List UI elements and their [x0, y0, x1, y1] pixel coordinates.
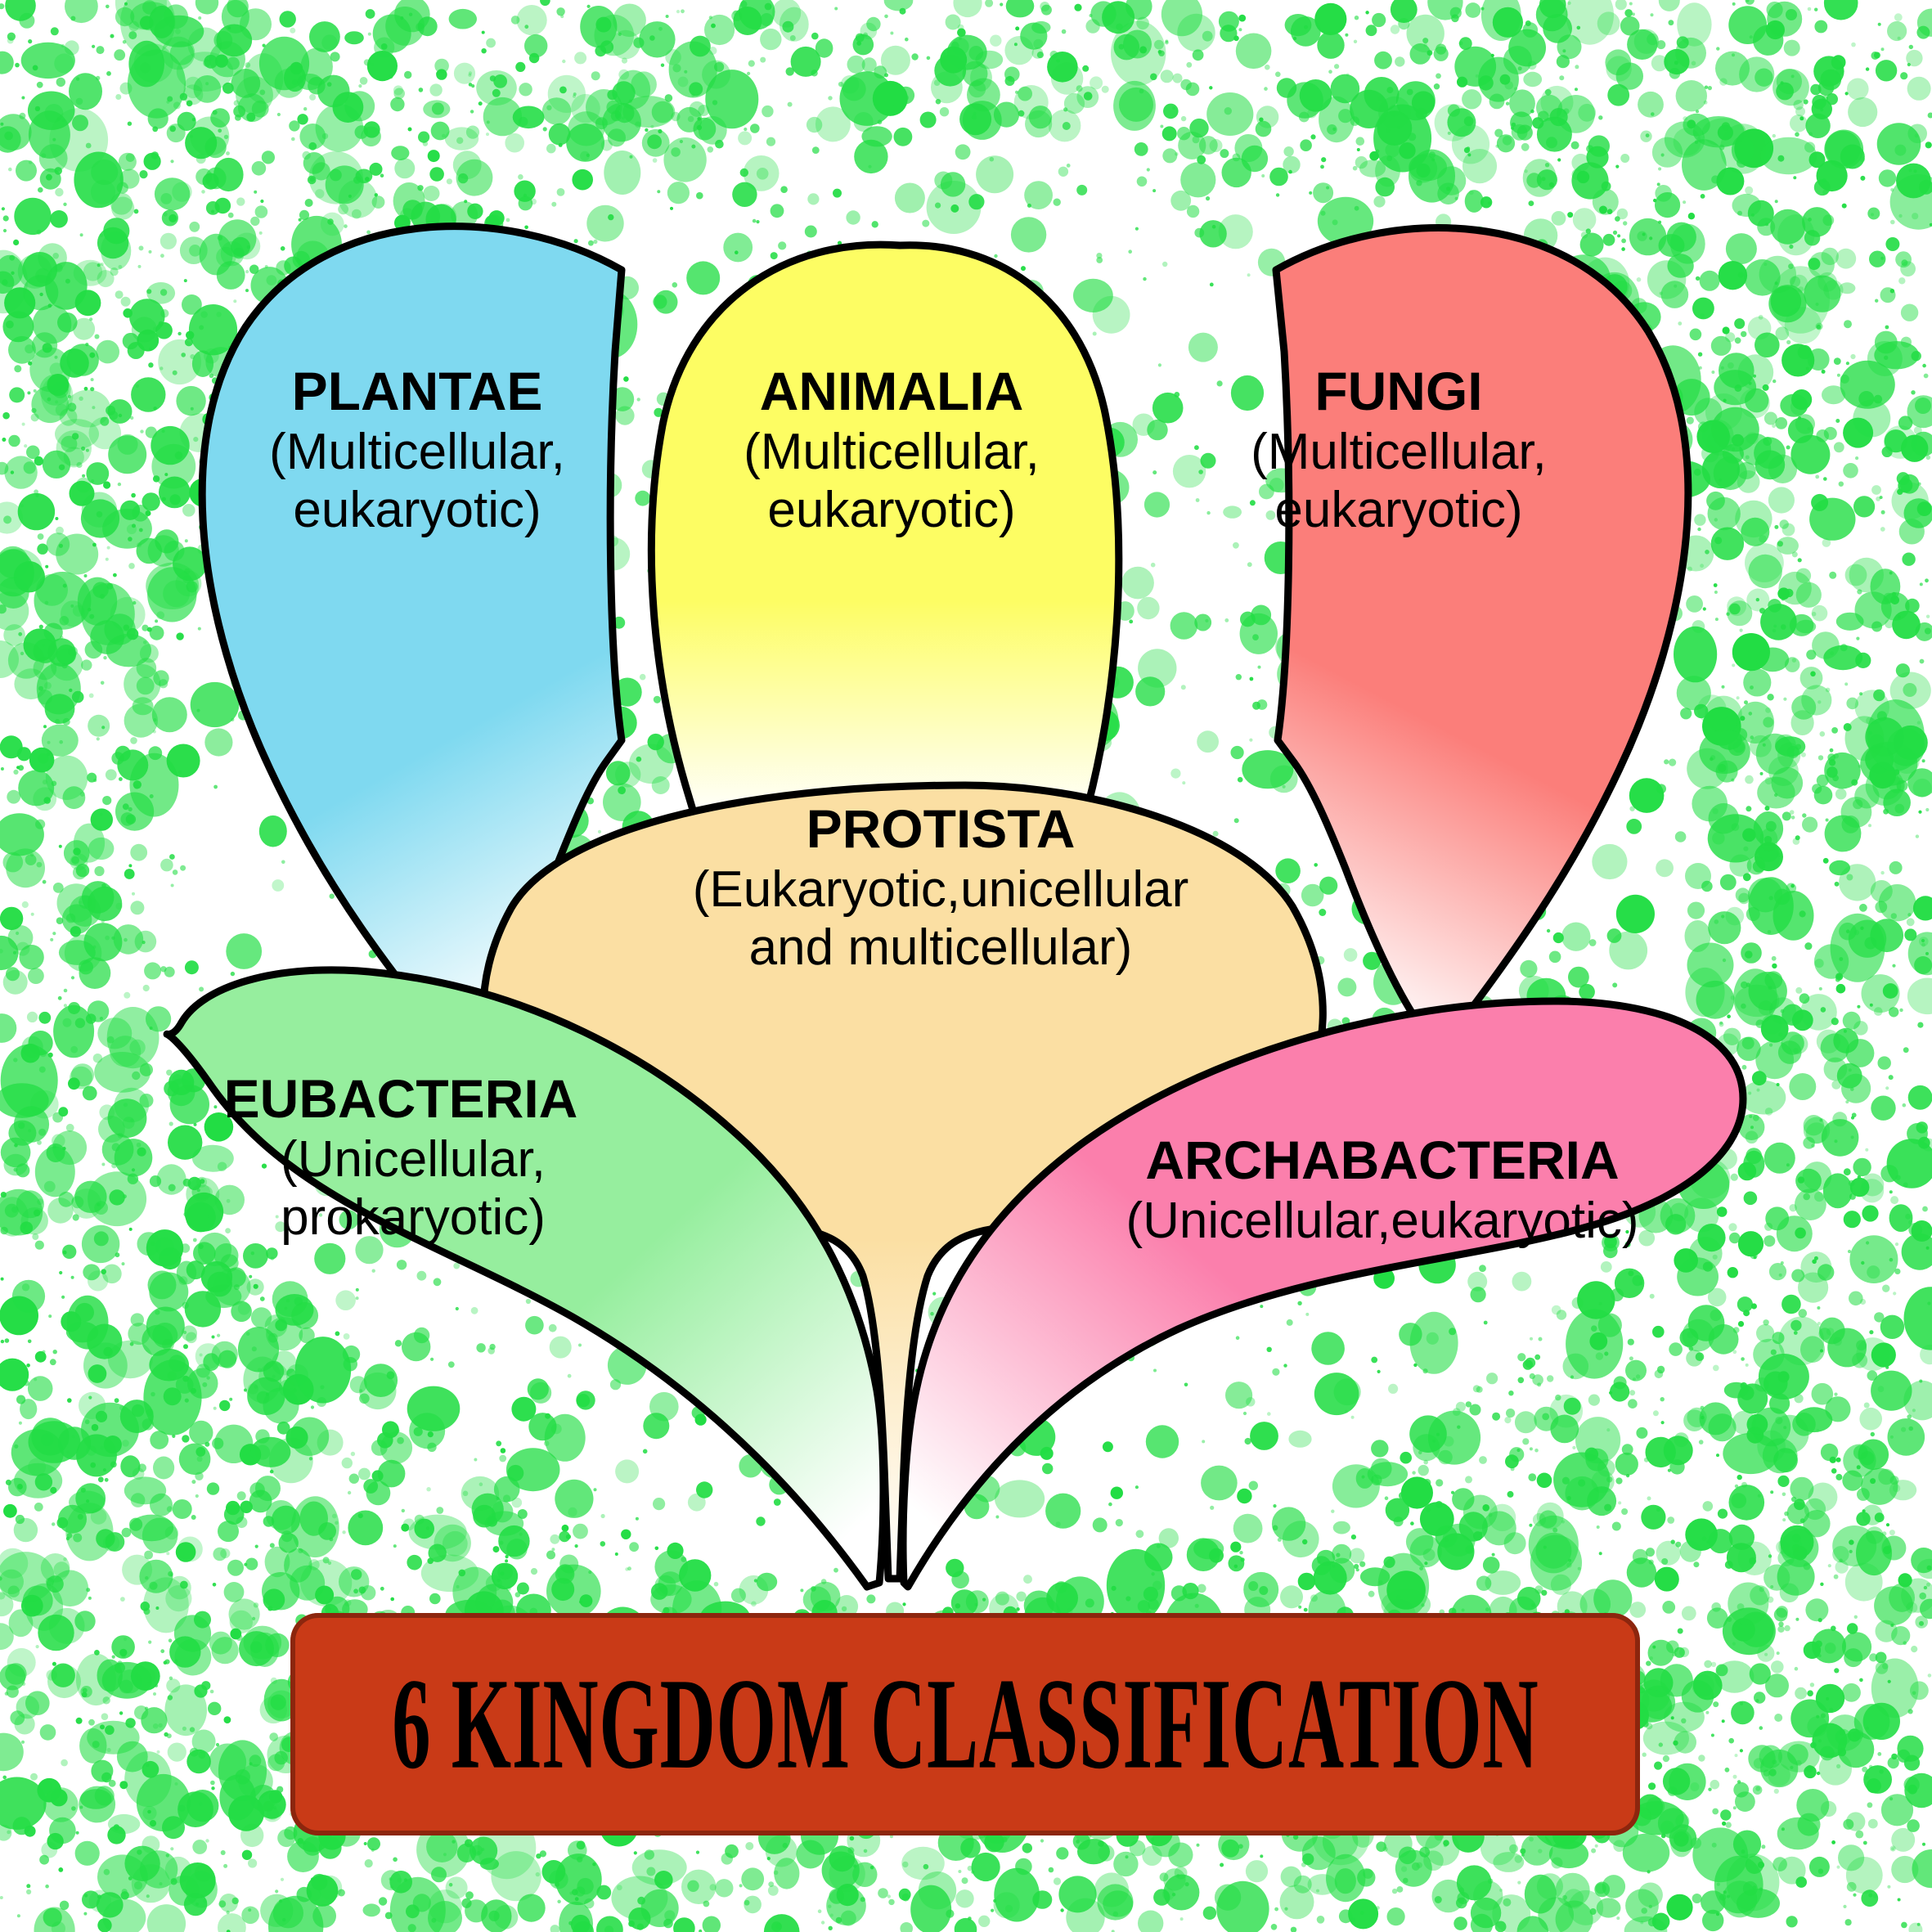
page-title: 6 KINGDOM CLASSIFICATION	[392, 1649, 1539, 1799]
petal-fungi[interactable]	[1276, 228, 1688, 1051]
title-banner[interactable]: 6 KINGDOM CLASSIFICATION	[290, 1613, 1640, 1835]
diagram-canvas: PLANTAE (Multicellular, eukaryotic) ANIM…	[0, 0, 1932, 1932]
petal-animalia[interactable]	[651, 245, 1118, 818]
